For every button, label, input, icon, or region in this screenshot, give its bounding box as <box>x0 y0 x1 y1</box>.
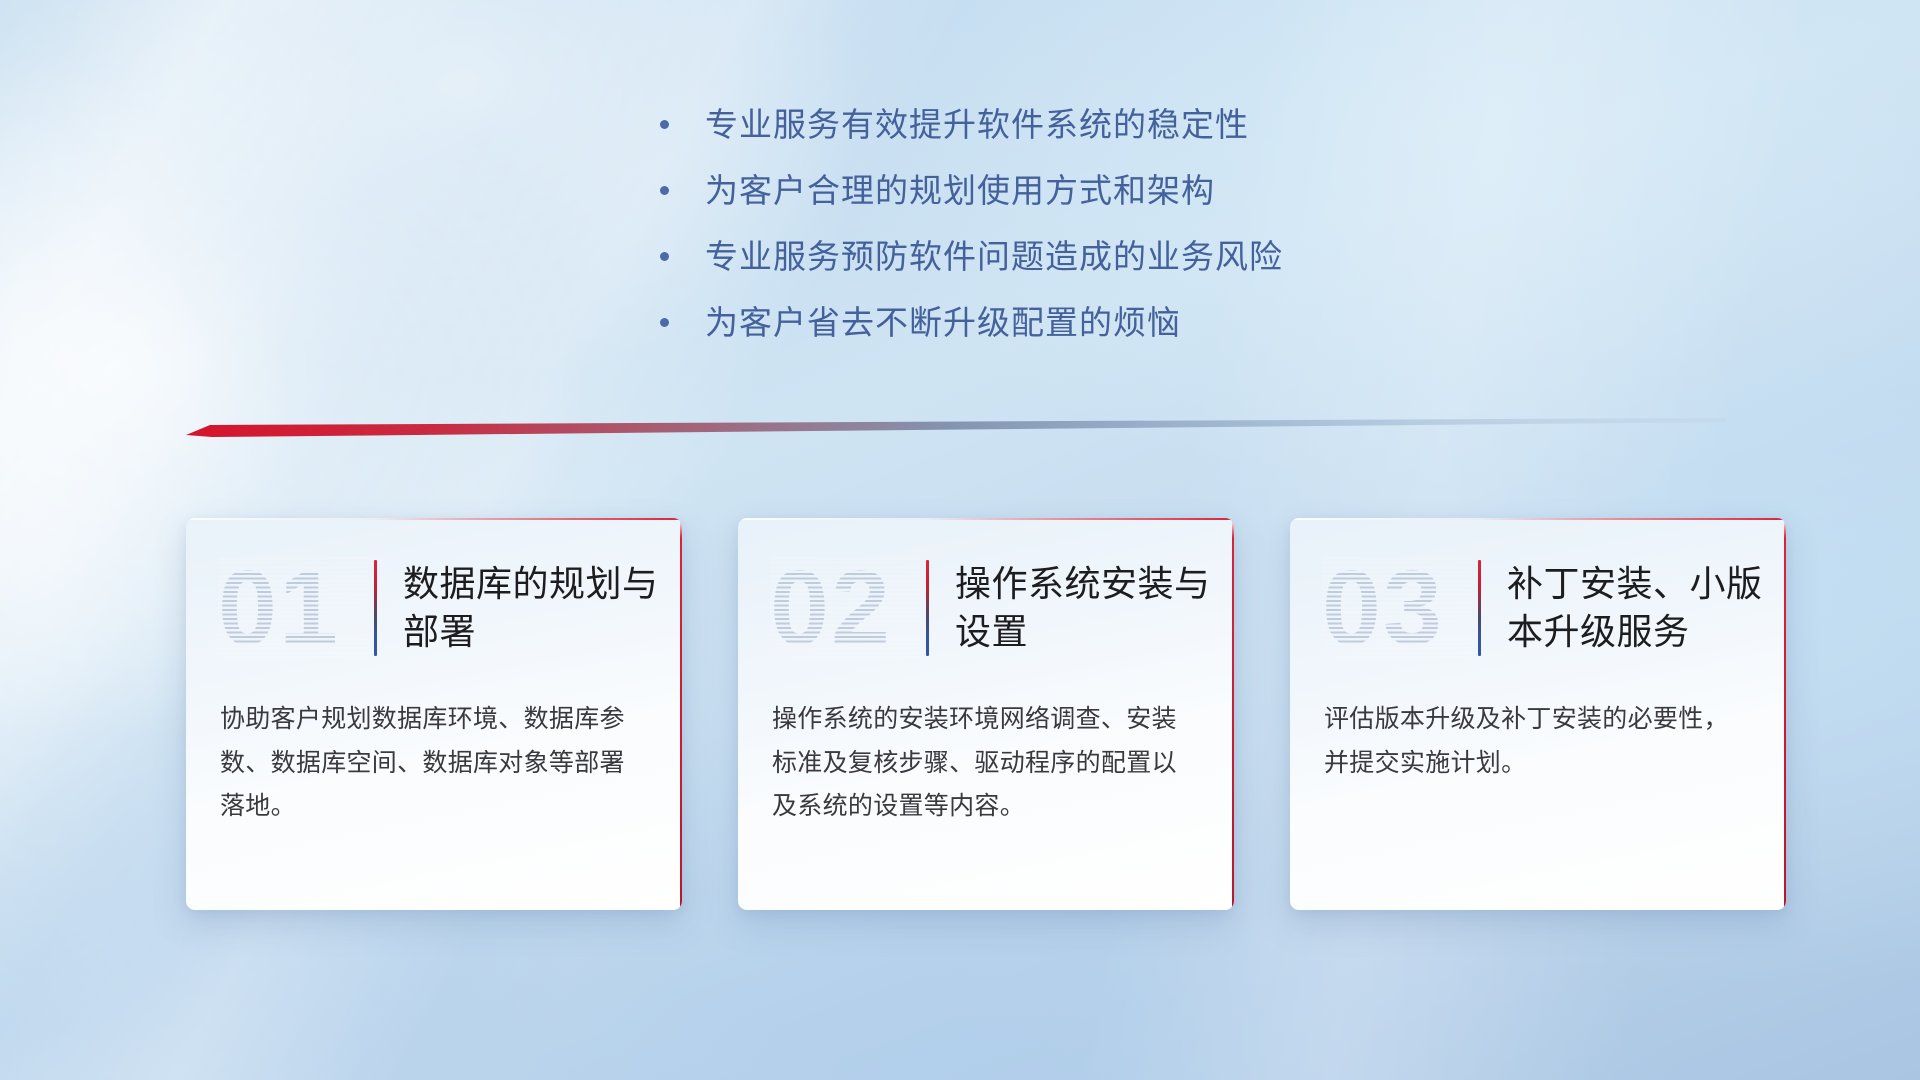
service-card[interactable]: 01 数据库的规划与部署 协助客户规划数据库环境、数据库参数、数据库空间、数据库… <box>186 518 682 910</box>
card-title: 补丁安装、小版本升级服务 <box>1507 560 1786 656</box>
slide-canvas: 专业服务有效提升软件系统的稳定性 为客户合理的规划使用方式和架构 专业服务预防软… <box>0 0 1920 1080</box>
service-card[interactable]: 03 补丁安装、小版本升级服务 评估版本升级及补丁安装的必要性，并提交实施计划。 <box>1290 518 1786 910</box>
list-item: 为客户省去不断升级配置的烦恼 <box>660 306 1283 339</box>
card-body-text: 操作系统的安装环境网络调查、安装标准及复核步骤、驱动程序的配置以及系统的设置等内… <box>738 698 1234 829</box>
card-separator-bar <box>374 560 377 656</box>
card-body-text: 评估版本升级及补丁安装的必要性，并提交实施计划。 <box>1290 698 1786 785</box>
card-title: 数据库的规划与部署 <box>403 560 682 656</box>
benefits-bullet-list: 专业服务有效提升软件系统的稳定性 为客户合理的规划使用方式和架构 专业服务预防软… <box>660 108 1283 372</box>
card-number-watermark: 03 <box>1322 555 1472 661</box>
divider-shape-icon <box>186 418 1726 444</box>
card-body-text: 协助客户规划数据库环境、数据库参数、数据库空间、数据库对象等部署落地。 <box>186 698 682 829</box>
card-separator-bar <box>926 560 929 656</box>
bullet-dot-icon <box>660 120 669 129</box>
card-header: 01 数据库的规划与部署 <box>186 518 682 698</box>
list-item: 专业服务有效提升软件系统的稳定性 <box>660 108 1283 141</box>
bullet-dot-icon <box>660 252 669 261</box>
card-title: 操作系统安装与设置 <box>955 560 1234 656</box>
section-divider <box>186 418 1726 444</box>
bullet-dot-icon <box>660 318 669 327</box>
service-card[interactable]: 02 操作系统安装与设置 操作系统的安装环境网络调查、安装标准及复核步骤、驱动程… <box>738 518 1234 910</box>
bullet-text: 专业服务有效提升软件系统的稳定性 <box>705 108 1249 141</box>
card-number-watermark: 02 <box>770 555 920 661</box>
bullet-text: 为客户省去不断升级配置的烦恼 <box>705 306 1181 339</box>
card-number-watermark: 01 <box>218 555 368 661</box>
bullet-text: 专业服务预防软件问题造成的业务风险 <box>705 240 1283 273</box>
list-item: 专业服务预防软件问题造成的业务风险 <box>660 240 1283 273</box>
card-header: 02 操作系统安装与设置 <box>738 518 1234 698</box>
card-separator-bar <box>1478 560 1481 656</box>
list-item: 为客户合理的规划使用方式和架构 <box>660 174 1283 207</box>
service-cards-row: 01 数据库的规划与部署 协助客户规划数据库环境、数据库参数、数据库空间、数据库… <box>186 518 1788 910</box>
card-header: 03 补丁安装、小版本升级服务 <box>1290 518 1786 698</box>
bullet-dot-icon <box>660 186 669 195</box>
bullet-text: 为客户合理的规划使用方式和架构 <box>705 174 1215 207</box>
